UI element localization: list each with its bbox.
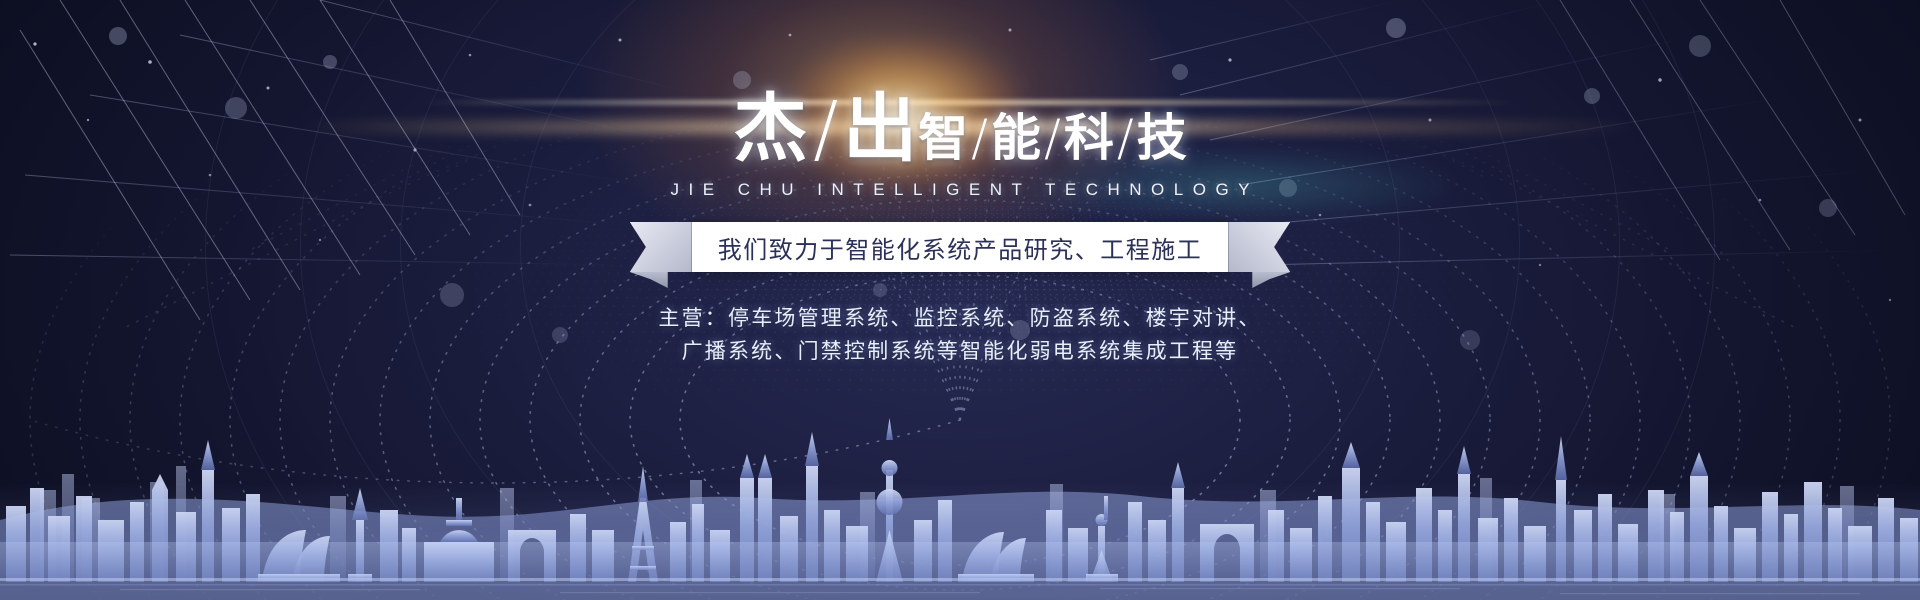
title-char-1: 杰	[733, 92, 808, 166]
title-char-6: 技	[1137, 113, 1187, 163]
title-char-5: 科	[1064, 113, 1114, 163]
ribbon-tail-right	[1252, 272, 1290, 288]
title-slash-1: /	[813, 92, 838, 166]
services-line-1: 主营：停车场管理系统、监控系统、防盗系统、楼宇对讲、	[658, 302, 1261, 335]
title-char-4: 能	[991, 113, 1041, 163]
title-slash-2: /	[971, 113, 988, 163]
banner-content: 杰 / 出 智 / 能 / 科 / 技 JIE CHU INTELLIGENT …	[0, 0, 1920, 600]
slogan-ribbon: 我们致力于智能化系统产品研究、工程施工	[630, 222, 1291, 272]
title-char-3: 智	[918, 113, 968, 163]
english-subtitle: JIE CHU INTELLIGENT TECHNOLOGY	[661, 180, 1259, 200]
title-slash-3: /	[1044, 113, 1061, 163]
ribbon-slogan-text: 我们致力于智能化系统产品研究、工程施工	[718, 230, 1203, 265]
services-line-2: 广播系统、门禁控制系统等智能化弱电系统集成工程等	[658, 335, 1261, 368]
ribbon-body: 我们致力于智能化系统产品研究、工程施工	[692, 222, 1229, 272]
title-char-2: 出	[843, 92, 918, 166]
hero-banner: 杰 / 出 智 / 能 / 科 / 技 JIE CHU INTELLIGENT …	[0, 0, 1920, 600]
ribbon-wing-left	[630, 222, 692, 272]
title-slash-4: /	[1117, 113, 1134, 163]
main-title: 杰 / 出 智 / 能 / 科 / 技	[733, 92, 1187, 166]
ribbon-wing-right	[1228, 222, 1290, 272]
ribbon-tail-left	[630, 272, 668, 288]
services-description: 主营：停车场管理系统、监控系统、防盗系统、楼宇对讲、 广播系统、门禁控制系统等智…	[658, 302, 1261, 367]
